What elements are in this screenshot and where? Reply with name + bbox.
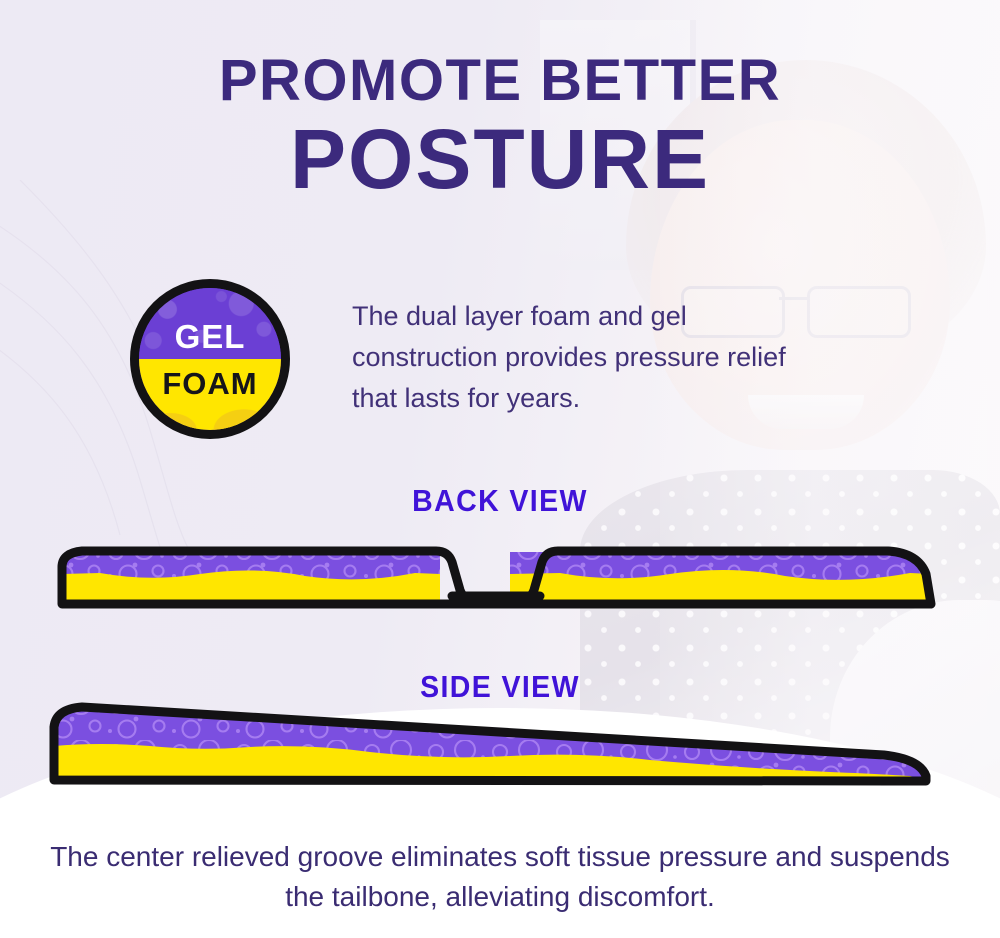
lead-description-text: The dual layer foam and gel construction… xyxy=(352,296,832,419)
gel-foam-badge: GEL FOAM xyxy=(130,279,290,439)
badge-foam-label: FOAM xyxy=(139,368,281,399)
title-line-2: POSTURE xyxy=(0,114,1000,205)
back-view-label: BACK VIEW xyxy=(40,483,960,519)
product-infographic: PROMOTE BETTER POSTURE GEL FOAM The dual… xyxy=(0,0,1000,938)
back-view-diagram xyxy=(40,540,950,620)
bottom-caption-text: The center relieved groove eliminates so… xyxy=(0,837,1000,918)
page-title: PROMOTE BETTER POSTURE xyxy=(0,52,1000,205)
side-view-diagram xyxy=(40,694,950,794)
title-line-1: PROMOTE BETTER xyxy=(0,52,1000,110)
badge-gel-label: GEL xyxy=(139,320,281,353)
